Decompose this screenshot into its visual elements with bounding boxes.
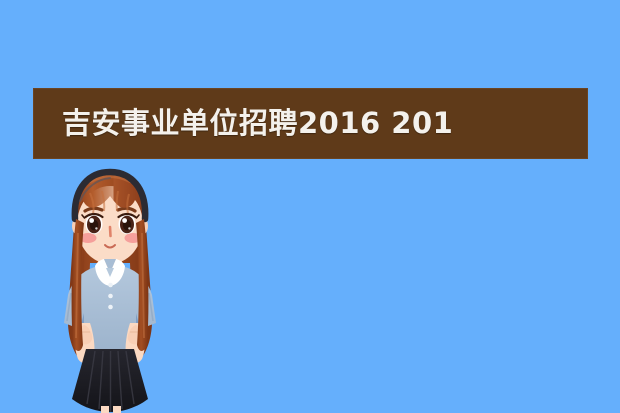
title-banner: 吉安事业单位招聘2016 201: [33, 88, 588, 159]
nose: [110, 227, 111, 236]
poster-canvas: 吉安事业单位招聘2016 201: [0, 0, 620, 413]
page-title: 吉安事业单位招聘2016 201: [34, 109, 453, 138]
skirt: [72, 349, 148, 412]
schoolgirl-illustration: [40, 163, 180, 413]
